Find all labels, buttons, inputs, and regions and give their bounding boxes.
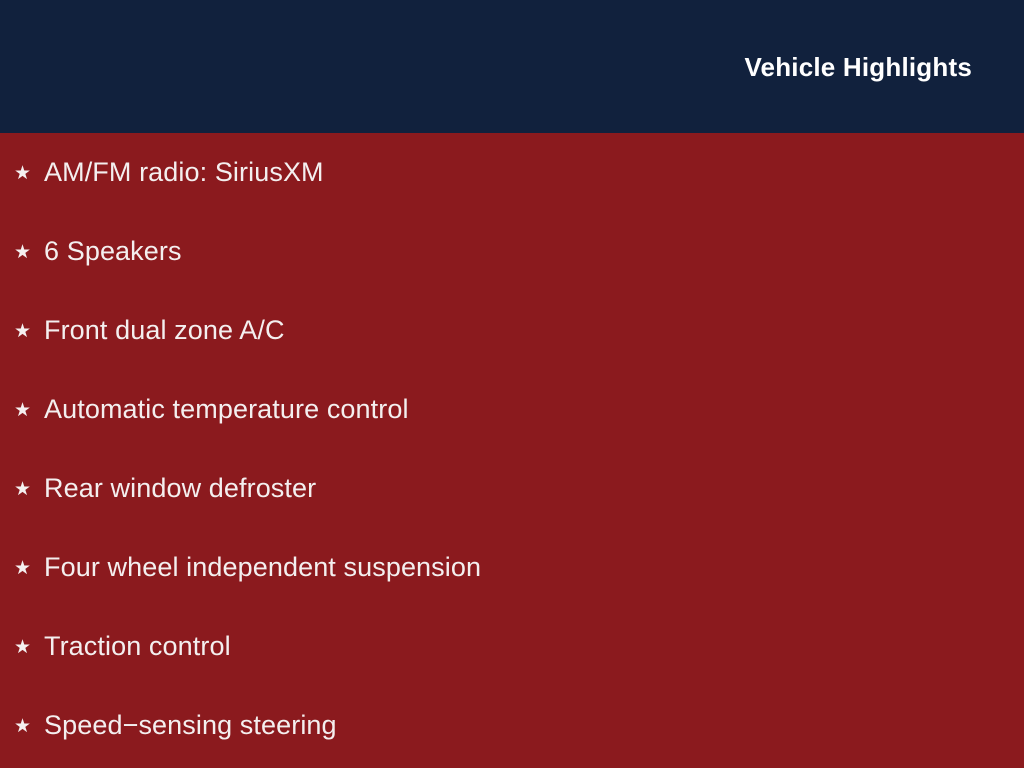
list-item-label: Speed−sensing steering <box>44 709 337 743</box>
list-item-label: Rear window defroster <box>44 472 316 506</box>
star-icon: ★ <box>14 243 44 262</box>
list-item-label: Four wheel independent suspension <box>44 551 481 585</box>
slide-header-bar: Vehicle Highlights <box>0 0 1024 133</box>
list-item: ★ AM/FM radio: SiriusXM <box>0 133 1024 212</box>
page-title: Vehicle Highlights <box>744 52 972 83</box>
vehicle-highlights-list: ★ AM/FM radio: SiriusXM ★ 6 Speakers ★ F… <box>0 133 1024 765</box>
star-icon: ★ <box>14 559 44 578</box>
star-icon: ★ <box>14 638 44 657</box>
slide: Vehicle Highlights ★ AM/FM radio: Sirius… <box>0 0 1024 768</box>
list-item: ★ Speed−sensing steering <box>0 686 1024 765</box>
list-item-label: Automatic temperature control <box>44 393 409 427</box>
star-icon: ★ <box>14 480 44 499</box>
star-icon: ★ <box>14 322 44 341</box>
list-item-label: Front dual zone A/C <box>44 314 285 348</box>
list-item-label: AM/FM radio: SiriusXM <box>44 156 324 190</box>
list-item: ★ Four wheel independent suspension <box>0 528 1024 607</box>
list-item: ★ 6 Speakers <box>0 212 1024 291</box>
star-icon: ★ <box>14 401 44 420</box>
list-item: ★ Front dual zone A/C <box>0 291 1024 370</box>
list-item: ★ Rear window defroster <box>0 449 1024 528</box>
list-item: ★ Automatic temperature control <box>0 370 1024 449</box>
list-item-label: 6 Speakers <box>44 235 182 269</box>
list-item: ★ Traction control <box>0 607 1024 686</box>
star-icon: ★ <box>14 164 44 183</box>
slide-content-area: ★ AM/FM radio: SiriusXM ★ 6 Speakers ★ F… <box>0 133 1024 768</box>
star-icon: ★ <box>14 717 44 736</box>
list-item-label: Traction control <box>44 630 231 664</box>
